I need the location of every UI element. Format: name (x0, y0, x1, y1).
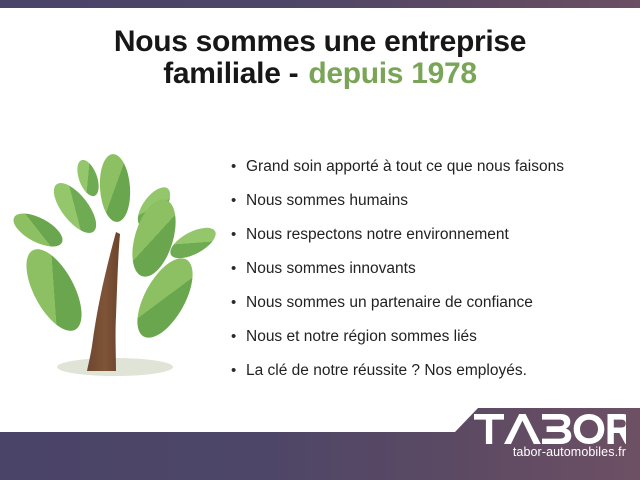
bullet-icon: • (231, 286, 236, 320)
headline-line-2: familiale -depuis 1978 (0, 58, 640, 90)
list-item-label: Nous sommes innovants (246, 260, 416, 277)
list-item-label: Nous et notre région sommes liés (246, 328, 477, 345)
list-item: • Nous sommes un partenaire de confiance (228, 286, 628, 320)
top-accent-strip (0, 0, 640, 8)
headline-accent-year: depuis 1978 (308, 57, 476, 90)
bullet-icon: • (231, 150, 236, 184)
headline-line-2-main: familiale - (163, 57, 298, 90)
benefits-list: • Grand soin apporté à tout ce que nous … (228, 150, 628, 388)
brand-domain[interactable]: tabor-automobiles.fr (474, 445, 626, 459)
bullet-icon: • (231, 320, 236, 354)
bullet-icon: • (231, 184, 236, 218)
list-item-label: Nous sommes un partenaire de confiance (246, 294, 533, 311)
tabor-logo (474, 414, 626, 444)
list-item: • La clé de notre réussite ? Nos employé… (228, 354, 628, 388)
headline-line-1: Nous sommes une entreprise (0, 26, 640, 58)
bullet-icon: • (231, 354, 236, 388)
list-item: • Grand soin apporté à tout ce que nous … (228, 150, 628, 184)
list-item-label: Grand soin apporté à tout ce que nous fa… (246, 158, 564, 175)
list-item-label: La clé de notre réussite ? Nos employés. (246, 362, 527, 379)
list-item-label: Nous sommes humains (246, 192, 408, 209)
page-title: Nous sommes une entreprise familiale -de… (0, 26, 640, 91)
footer-bar: tabor-automobiles.fr (0, 406, 640, 480)
brand-block[interactable]: tabor-automobiles.fr (474, 414, 626, 459)
list-item: • Nous respectons notre environnement (228, 218, 628, 252)
list-item-label: Nous respectons notre environnement (246, 226, 509, 243)
bullet-icon: • (231, 218, 236, 252)
tree-trunk (87, 232, 120, 371)
tree-illustration (12, 150, 227, 385)
list-item: • Nous sommes innovants (228, 252, 628, 286)
list-item: • Nous sommes humains (228, 184, 628, 218)
list-item: • Nous et notre région sommes liés (228, 320, 628, 354)
bullet-icon: • (231, 252, 236, 286)
